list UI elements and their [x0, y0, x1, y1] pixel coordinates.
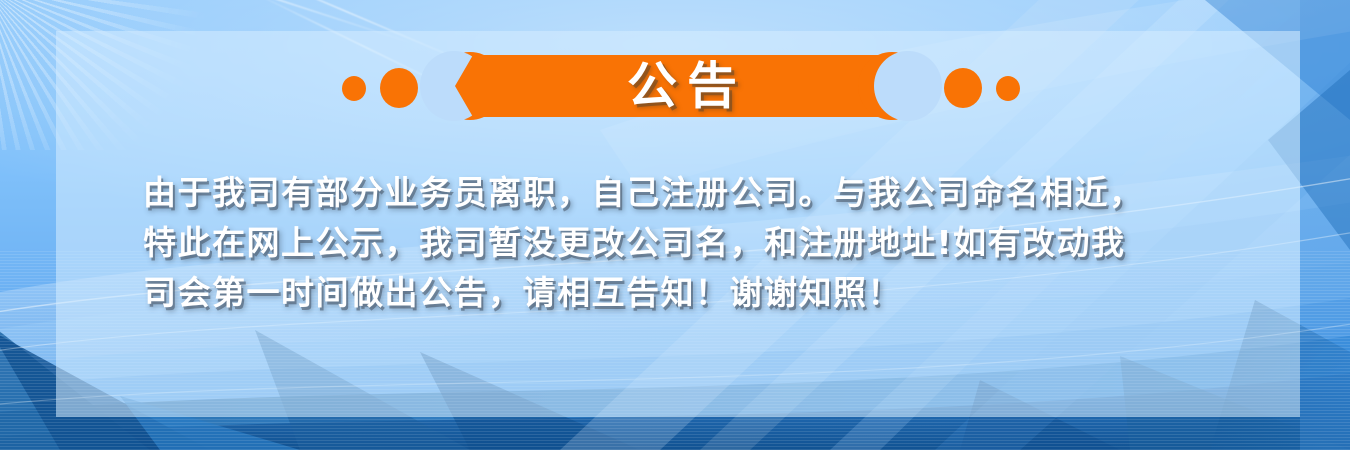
announcement-line: 特此在网上公示，我司暂没更改公司名，和注册地址!如有改动我	[143, 218, 1233, 268]
title-ribbon: 公告	[336, 50, 1026, 122]
crescent-right-icon	[858, 52, 926, 120]
announcement-line: 由于我司有部分业务员离职，自己注册公司。与我公司命名相近，	[143, 168, 1233, 218]
dot-medium-right-icon	[944, 68, 982, 108]
dot-small-right-icon	[996, 76, 1020, 101]
announcement-line: 司会第一时间做出公告，请相互告知！谢谢知照！	[143, 268, 1233, 318]
announcement-body: 由于我司有部分业务员离职，自己注册公司。与我公司命名相近， 特此在网上公示，我司…	[143, 168, 1233, 318]
dot-medium-left-icon	[380, 68, 418, 108]
announcement-banner: 公告 由于我司有部分业务员离职，自己注册公司。与我公司命名相近， 特此在网上公示…	[0, 0, 1350, 450]
dot-small-left-icon	[342, 76, 366, 101]
page-title: 公告	[473, 55, 891, 117]
